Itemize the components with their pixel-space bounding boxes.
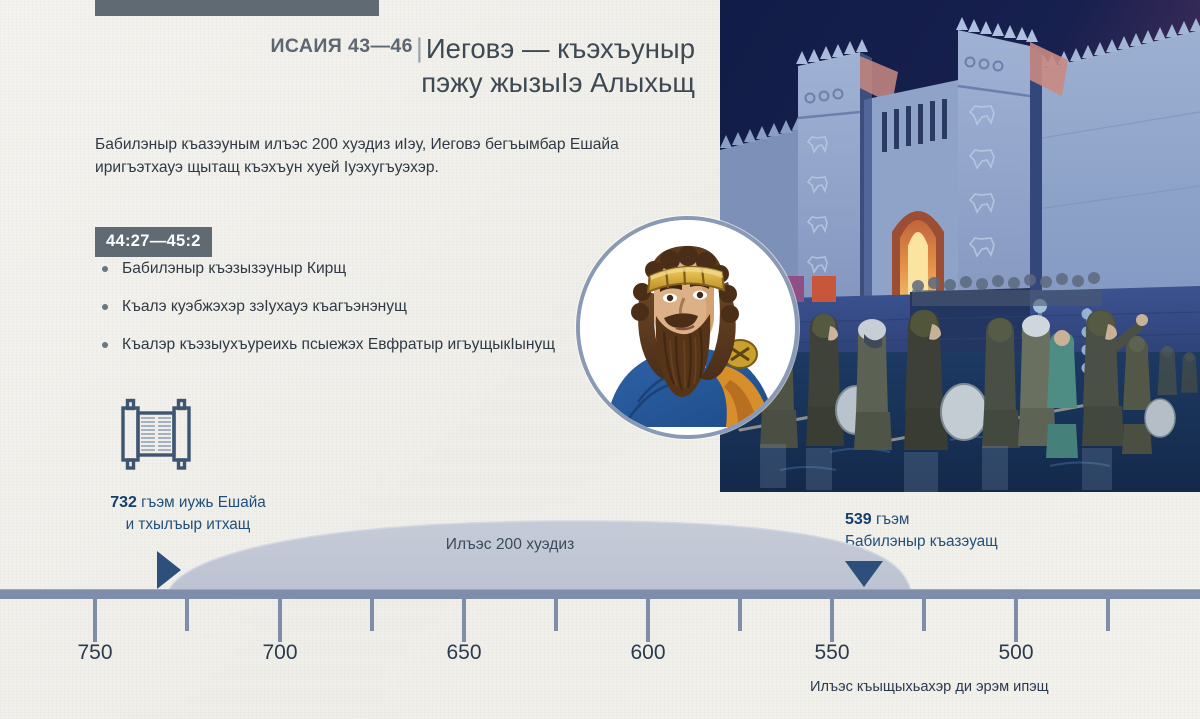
- event-text-539-line2: Бабилэныр къазэуащ: [845, 533, 998, 550]
- prophecy-bullet-list: Бабилэныр къэзызэуныр Кирщ Къалэ куэбжэх…: [99, 258, 569, 372]
- axis-tick-label-500: 500: [976, 641, 1056, 665]
- list-item: Къалэ куэбжэхэр зэIухауэ къагъэнэнущ: [99, 296, 569, 318]
- scripture-reference: ИСАИЯ 43—46: [270, 35, 412, 57]
- event-label-732: 732 гъэм иужь Ешайа и тхылъыр итхащ: [88, 491, 288, 536]
- list-item: Къалэр къэзыухъуреихь псыежэх Евфратыр и…: [99, 334, 569, 356]
- axis-tick-label-750: 750: [55, 641, 135, 665]
- axis-tick-922: [922, 598, 926, 631]
- axis-tick-554: [554, 598, 558, 631]
- event-text-732-line2: и тхылъыр итхащ: [126, 516, 251, 533]
- axis-tick-750: [93, 598, 97, 642]
- axis-tick-550: [830, 598, 834, 642]
- event-year-539: 539: [845, 511, 872, 528]
- timeline-marker-left-icon: [157, 551, 181, 589]
- event-label-539: 539 гъэм Бабилэныр къазэуащ: [845, 508, 1105, 553]
- axis-tick-1106: [1106, 598, 1110, 631]
- axis-tick-label-700: 700: [240, 641, 320, 665]
- verse-badge: 44:27—45:2: [95, 227, 212, 257]
- title-divider: |: [413, 33, 426, 63]
- babylon-gate-illustration: [720, 0, 1200, 492]
- axis-tick-label-650: 650: [424, 641, 504, 665]
- page-title: ИСАИЯ 43—46|Иеговэ — къэхъуныр пэжу жызы…: [95, 32, 695, 99]
- top-rule: [95, 0, 379, 16]
- event-text-539-line1: гъэм: [872, 511, 910, 528]
- axis-tick-500: [1014, 598, 1018, 642]
- timeline-marker-right-icon: [845, 561, 883, 587]
- axis-tick-600: [646, 598, 650, 642]
- event-year-732: 732: [110, 494, 137, 511]
- intro-paragraph: Бабилэныр къазэуным илъэс 200 хуэдиз иIэ…: [95, 133, 640, 179]
- scroll-icon: [112, 398, 200, 476]
- event-text-732-line1: гъэм иужь Ешайа: [137, 494, 266, 511]
- axis-tick-label-600: 600: [608, 641, 688, 665]
- list-item: Бабилэныр къэзызэуныр Кирщ: [99, 258, 569, 280]
- timeline-span-label: Илъэс 200 хуэдиз: [340, 536, 680, 554]
- title-line-2: пэжу жызыIэ Алыхьщ: [421, 67, 695, 98]
- infographic-page: ИСАИЯ 43—46|Иеговэ — къэхъуныр пэжу жызы…: [0, 0, 1200, 719]
- cyrus-portrait: [576, 216, 799, 439]
- axis-tick-700: [278, 598, 282, 642]
- footer-caption: Илъэс къыщыхьахэр ди эрэм ипэщ: [810, 679, 1049, 695]
- axis-tick-738: [738, 598, 742, 631]
- axis-tick-label-550: 550: [792, 641, 872, 665]
- axis-tick-650: [462, 598, 466, 642]
- timeline-axis: [0, 589, 1200, 599]
- axis-tick-185: [185, 598, 189, 631]
- title-line-1: Иеговэ — къэхъуныр: [426, 33, 695, 64]
- axis-tick-370: [370, 598, 374, 631]
